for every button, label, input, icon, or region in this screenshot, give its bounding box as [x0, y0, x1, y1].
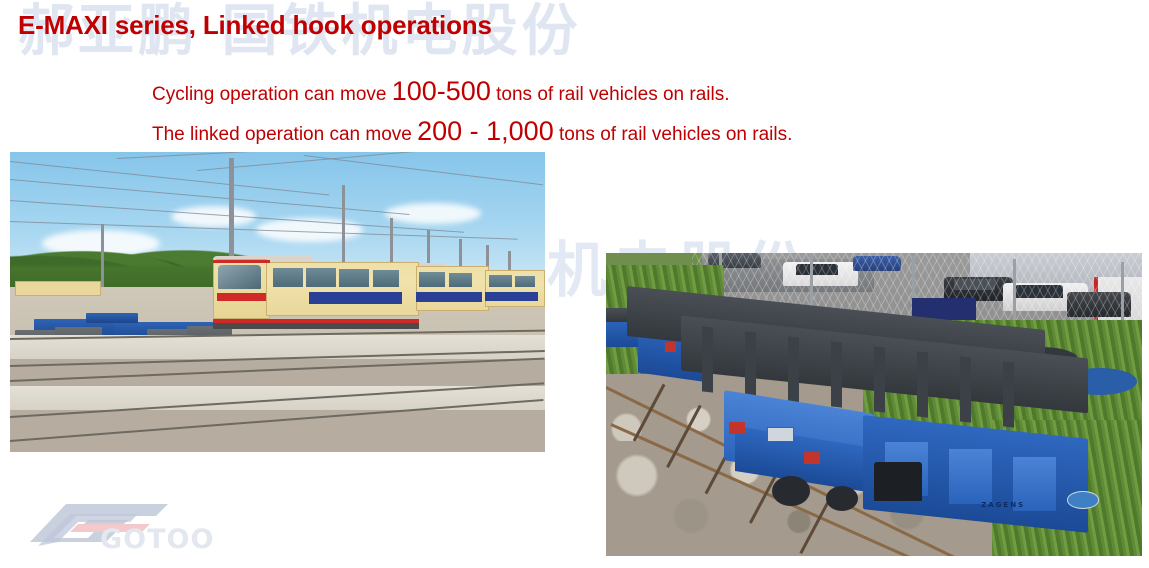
- tram-windshield: [218, 265, 261, 289]
- tram-window: [339, 269, 369, 287]
- tram-stripe: [213, 260, 269, 263]
- logo-wordmark: GOTOO: [100, 524, 214, 555]
- tram-window: [373, 270, 400, 287]
- gotoo-logo: GOTOO: [18, 484, 218, 556]
- shunting-unit-top: [86, 313, 138, 323]
- body-line-1-highlight: 100-500: [392, 76, 491, 106]
- deck-crossbeam: [917, 352, 928, 418]
- operator-seat: [874, 462, 922, 502]
- tram-window: [489, 275, 512, 287]
- tram-window: [419, 272, 446, 287]
- deck-crossbeam: [960, 357, 971, 423]
- page-title: E-MAXI series, Linked hook operations: [18, 10, 492, 41]
- body-line-2: The linked operation can move 200 - 1,00…: [152, 116, 792, 147]
- deck-crossbeam: [702, 327, 713, 393]
- tram-window: [273, 268, 303, 288]
- tram-advert: [309, 292, 402, 304]
- gt-monogram-icon: [30, 504, 168, 546]
- wagon-badge: [1067, 491, 1099, 508]
- tail-light: [665, 342, 676, 352]
- control-panel: [767, 427, 794, 442]
- tail-light: [729, 422, 745, 434]
- catenary-pole: [101, 224, 104, 290]
- deck-crossbeam: [874, 347, 885, 413]
- tram-skirt: [213, 323, 419, 329]
- body-line-2-post: tons of rail vehicles on rails.: [554, 124, 793, 145]
- distant-tram: [15, 281, 101, 296]
- tram-advert: [416, 292, 482, 303]
- end-frame-post: [949, 449, 992, 504]
- deck-crossbeam: [745, 332, 756, 398]
- tram-window: [515, 276, 535, 287]
- deck-crossbeam: [1003, 362, 1014, 428]
- body-line-1-pre: Cycling operation can move: [152, 84, 392, 105]
- tail-light: [804, 452, 820, 464]
- deck-crossbeam: [831, 342, 842, 408]
- photo-linked-wagons: ZAGENS: [606, 253, 1142, 556]
- wheel: [826, 486, 858, 511]
- tram-advert: [485, 292, 538, 301]
- body-line-1: Cycling operation can move 100-500 tons …: [152, 76, 730, 107]
- tram-vehicle: [213, 254, 545, 329]
- deck-crossbeam: [788, 337, 799, 403]
- wheel: [772, 476, 810, 506]
- body-line-2-highlight: 200 - 1,000: [417, 116, 554, 146]
- tram-window: [449, 273, 472, 287]
- tram-window: [306, 268, 336, 287]
- body-line-2-pre: The linked operation can move: [152, 124, 417, 145]
- tram-stripe: [217, 293, 267, 301]
- ballast: [10, 410, 545, 452]
- wagon-marking: ZAGENS: [981, 501, 1025, 509]
- photo-tram-depot: [10, 152, 545, 452]
- body-line-1-post: tons of rail vehicles on rails.: [491, 84, 730, 105]
- linked-wagon-train: ZAGENS: [606, 308, 1142, 556]
